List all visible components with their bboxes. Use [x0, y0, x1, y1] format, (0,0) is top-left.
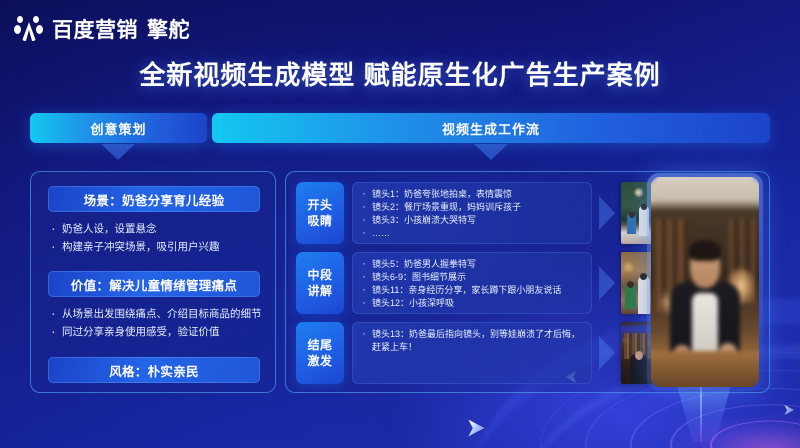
plan-block-bullets-scene: 奶爸人设，设置悬念 构建亲子冲突场景，吸引用户兴趣 — [49, 220, 267, 256]
stage-label-opening: 开头 吸睛 — [296, 182, 344, 244]
plan-block-title-value: 价值：解决儿童情绪管理痛点 — [48, 271, 260, 297]
page-title: 全新视频生成模型 赋能原生化广告生产案例 — [0, 55, 800, 92]
list-item: …… — [359, 227, 585, 240]
stage-label-line1: 开头 — [307, 197, 332, 213]
stage-label-middle: 中段 讲解 — [296, 252, 344, 314]
list-item: 从场景出发围绕痛点、介绍目标商品的细节 — [49, 305, 267, 323]
creative-plan-panel: 场景：奶爸分享育儿经验 奶爸人设，设置悬念 构建亲子冲突场景，吸引用户兴趣 价值… — [30, 171, 276, 393]
generated-video-frame[interactable] — [647, 173, 763, 391]
stage-label-line2: 激发 — [307, 353, 332, 369]
list-item: 镜头6-9：图书细节展示 — [359, 271, 585, 284]
play-arrow-icon — [466, 418, 486, 438]
shot-list-middle: 镜头5：奶爸男人握拳特写 镜头6-9：图书细节展示 镜头11：亲身经历分享，家长… — [352, 252, 592, 314]
list-item: 同过分享亲身使用感受，验证价值 — [49, 323, 267, 341]
list-item: 镜头3：小孩崩溃大哭特写 — [359, 214, 585, 227]
stage-label-line1: 中段 — [307, 267, 332, 283]
stage-label-line2: 讲解 — [307, 283, 332, 299]
stage-label-line2: 吸睛 — [307, 213, 332, 229]
list-item: 镜头12：小孩深呼吸 — [359, 297, 585, 310]
column-header-creative-plan: 创意策划 — [30, 113, 207, 143]
down-chevron-icon — [101, 144, 135, 160]
right-arrow-icon — [599, 196, 615, 230]
video-blur-overlay — [651, 177, 759, 387]
shot-list-ending: 镜头13：奶爸最后指向镜头，别等娃崩溃了才后悔，赶紧上车！ — [352, 322, 592, 384]
stage-label-line1: 结尾 — [307, 337, 332, 353]
plan-block-title-scene: 场景：奶爸分享育儿经验 — [48, 186, 260, 212]
brand-product: 擎舵 — [147, 19, 190, 42]
list-item: 镜头2：餐厅场景重现，妈妈训斥孩子 — [359, 201, 585, 214]
right-arrow-icon — [599, 266, 615, 300]
ripple-ring — [710, 421, 800, 448]
list-item: 奶爸人设，设置悬念 — [49, 220, 267, 238]
shot-list-opening: 镜头1：奶爸夸张地拍桌，表情震惊 镜头2：餐厅场景重现，妈妈训斥孩子 镜头3：小… — [352, 182, 592, 244]
stage-label-ending: 结尾 激发 — [296, 322, 344, 384]
list-item: 镜头1：奶爸夸张地拍桌，表情震惊 — [359, 188, 585, 201]
list-item: 镜头5：奶爸男人握拳特写 — [359, 258, 585, 271]
plan-block-title-style: 风格：朴实亲民 — [48, 357, 260, 383]
generated-video-preview[interactable] — [651, 177, 759, 387]
baidu-paw-icon — [14, 16, 44, 42]
down-chevron-icon — [474, 144, 508, 160]
brand-logo-text: 百度营销擎舵 — [52, 14, 190, 44]
right-arrow-icon — [599, 336, 615, 370]
list-item: 镜头13：奶爸最后指向镜头，别等娃崩溃了才后悔，赶紧上车！ — [359, 328, 585, 354]
list-item: 镜头11：亲身经历分享，家长蹲下跟小朋友说话 — [359, 284, 585, 297]
brand-name: 百度营销 — [52, 19, 138, 42]
slide-canvas: 百度营销擎舵 全新视频生成模型 赋能原生化广告生产案例 创意策划 视频生成工作流… — [0, 0, 800, 448]
column-header-video-workflow: 视频生成工作流 — [212, 113, 770, 143]
brand-logo: 百度营销擎舵 — [14, 14, 190, 44]
plan-block-bullets-value: 从场景出发围绕痛点、介绍目标商品的细节 同过分享亲身使用感受，验证价值 — [49, 305, 267, 341]
play-arrow-icon — [783, 404, 795, 416]
ripple-glow — [665, 415, 800, 448]
list-item: 构建亲子冲突场景，吸引用户兴趣 — [49, 238, 267, 256]
